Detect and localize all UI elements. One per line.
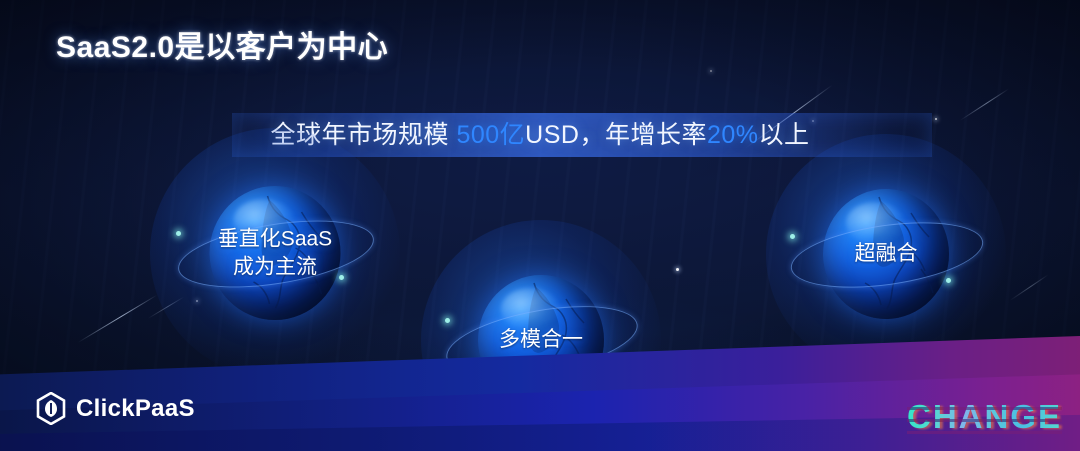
banner-text-prefix: 全球年市场规模	[270, 121, 456, 149]
banner-highlight-growth-rate: 20%	[707, 121, 759, 149]
node-label: 多模合一	[499, 326, 583, 354]
change-watermark-text: CHANGE	[907, 398, 1062, 435]
slide-canvas: SaaS2.0是以客户为中心 全球年市场规模 500亿USD，年增长率20%以上	[0, 0, 1080, 451]
orbit-dot	[445, 318, 450, 323]
node-label-line1: 多模合一	[499, 326, 583, 354]
page-title: SaaS2.0是以客户为中心	[56, 22, 388, 66]
banner-text-middle: USD，年增长率	[525, 121, 707, 149]
star-dot	[196, 300, 198, 302]
node-label: 超融合	[855, 240, 918, 268]
brand-logo[interactable]: ClickPaaS	[36, 392, 195, 425]
node-label-line1: 垂直化SaaS	[218, 225, 332, 253]
banner-text-suffix: 以上	[759, 121, 810, 149]
orbit-dot	[176, 231, 181, 236]
banner-highlight-market-size: 500亿	[456, 121, 525, 149]
brand-logo-text: ClickPaaS	[76, 395, 195, 423]
change-watermark: CHANGE CHANGE	[907, 398, 1062, 436]
orbit-dot	[790, 234, 795, 239]
node-label-line1: 超融合	[855, 240, 918, 268]
node-label: 垂直化SaaS 成为主流	[218, 225, 332, 280]
star-dot	[676, 268, 679, 271]
star-dot	[710, 70, 712, 72]
orbit-dot	[339, 275, 344, 280]
banner-text: 全球年市场规模 500亿USD，年增长率20%以上	[0, 107, 1080, 163]
hexagon-logo-icon	[36, 392, 66, 425]
node-label-line2: 成为主流	[218, 253, 332, 281]
orbit-dot	[946, 278, 951, 283]
